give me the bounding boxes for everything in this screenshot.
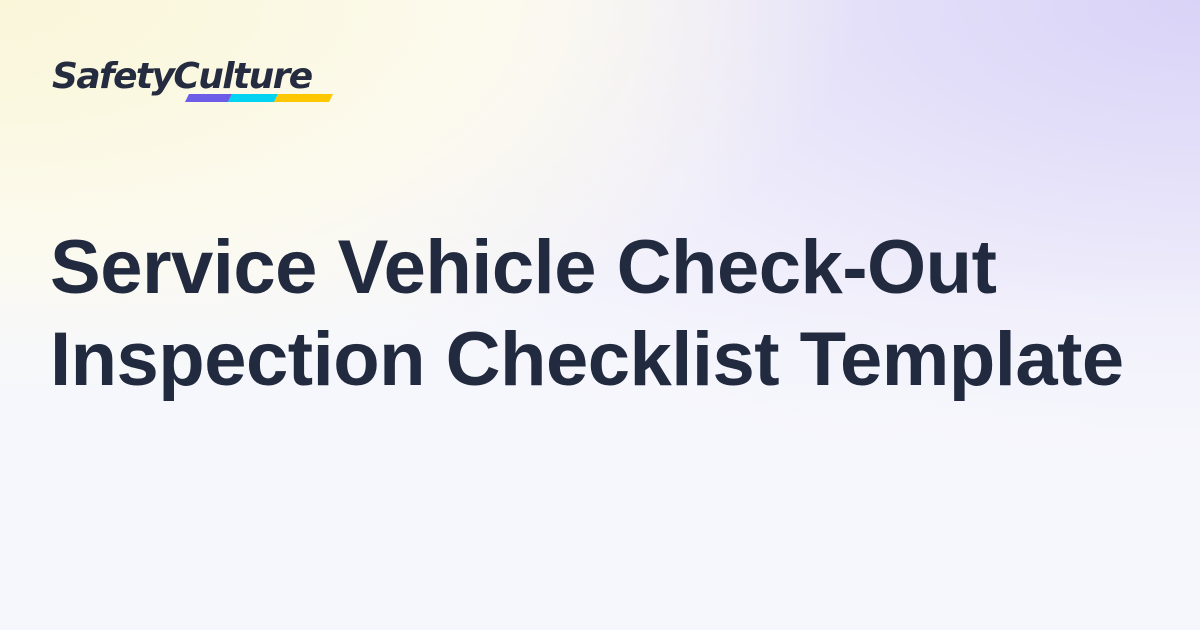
safetyculture-logo[interactable]: SafetyCulture	[52, 50, 342, 106]
page-title: Service Vehicle Check-Out Inspection Che…	[50, 222, 1160, 406]
logo-wordmark-text: SafetyCulture	[52, 56, 313, 97]
logo-underline	[185, 94, 333, 102]
logo-underline-cyan-segment	[228, 94, 278, 102]
card-content: SafetyCulture Service Vehicle Check-Out …	[0, 0, 1200, 630]
logo-underline-purple-segment	[185, 94, 232, 102]
logo-underline-yellow-segment	[274, 94, 333, 102]
